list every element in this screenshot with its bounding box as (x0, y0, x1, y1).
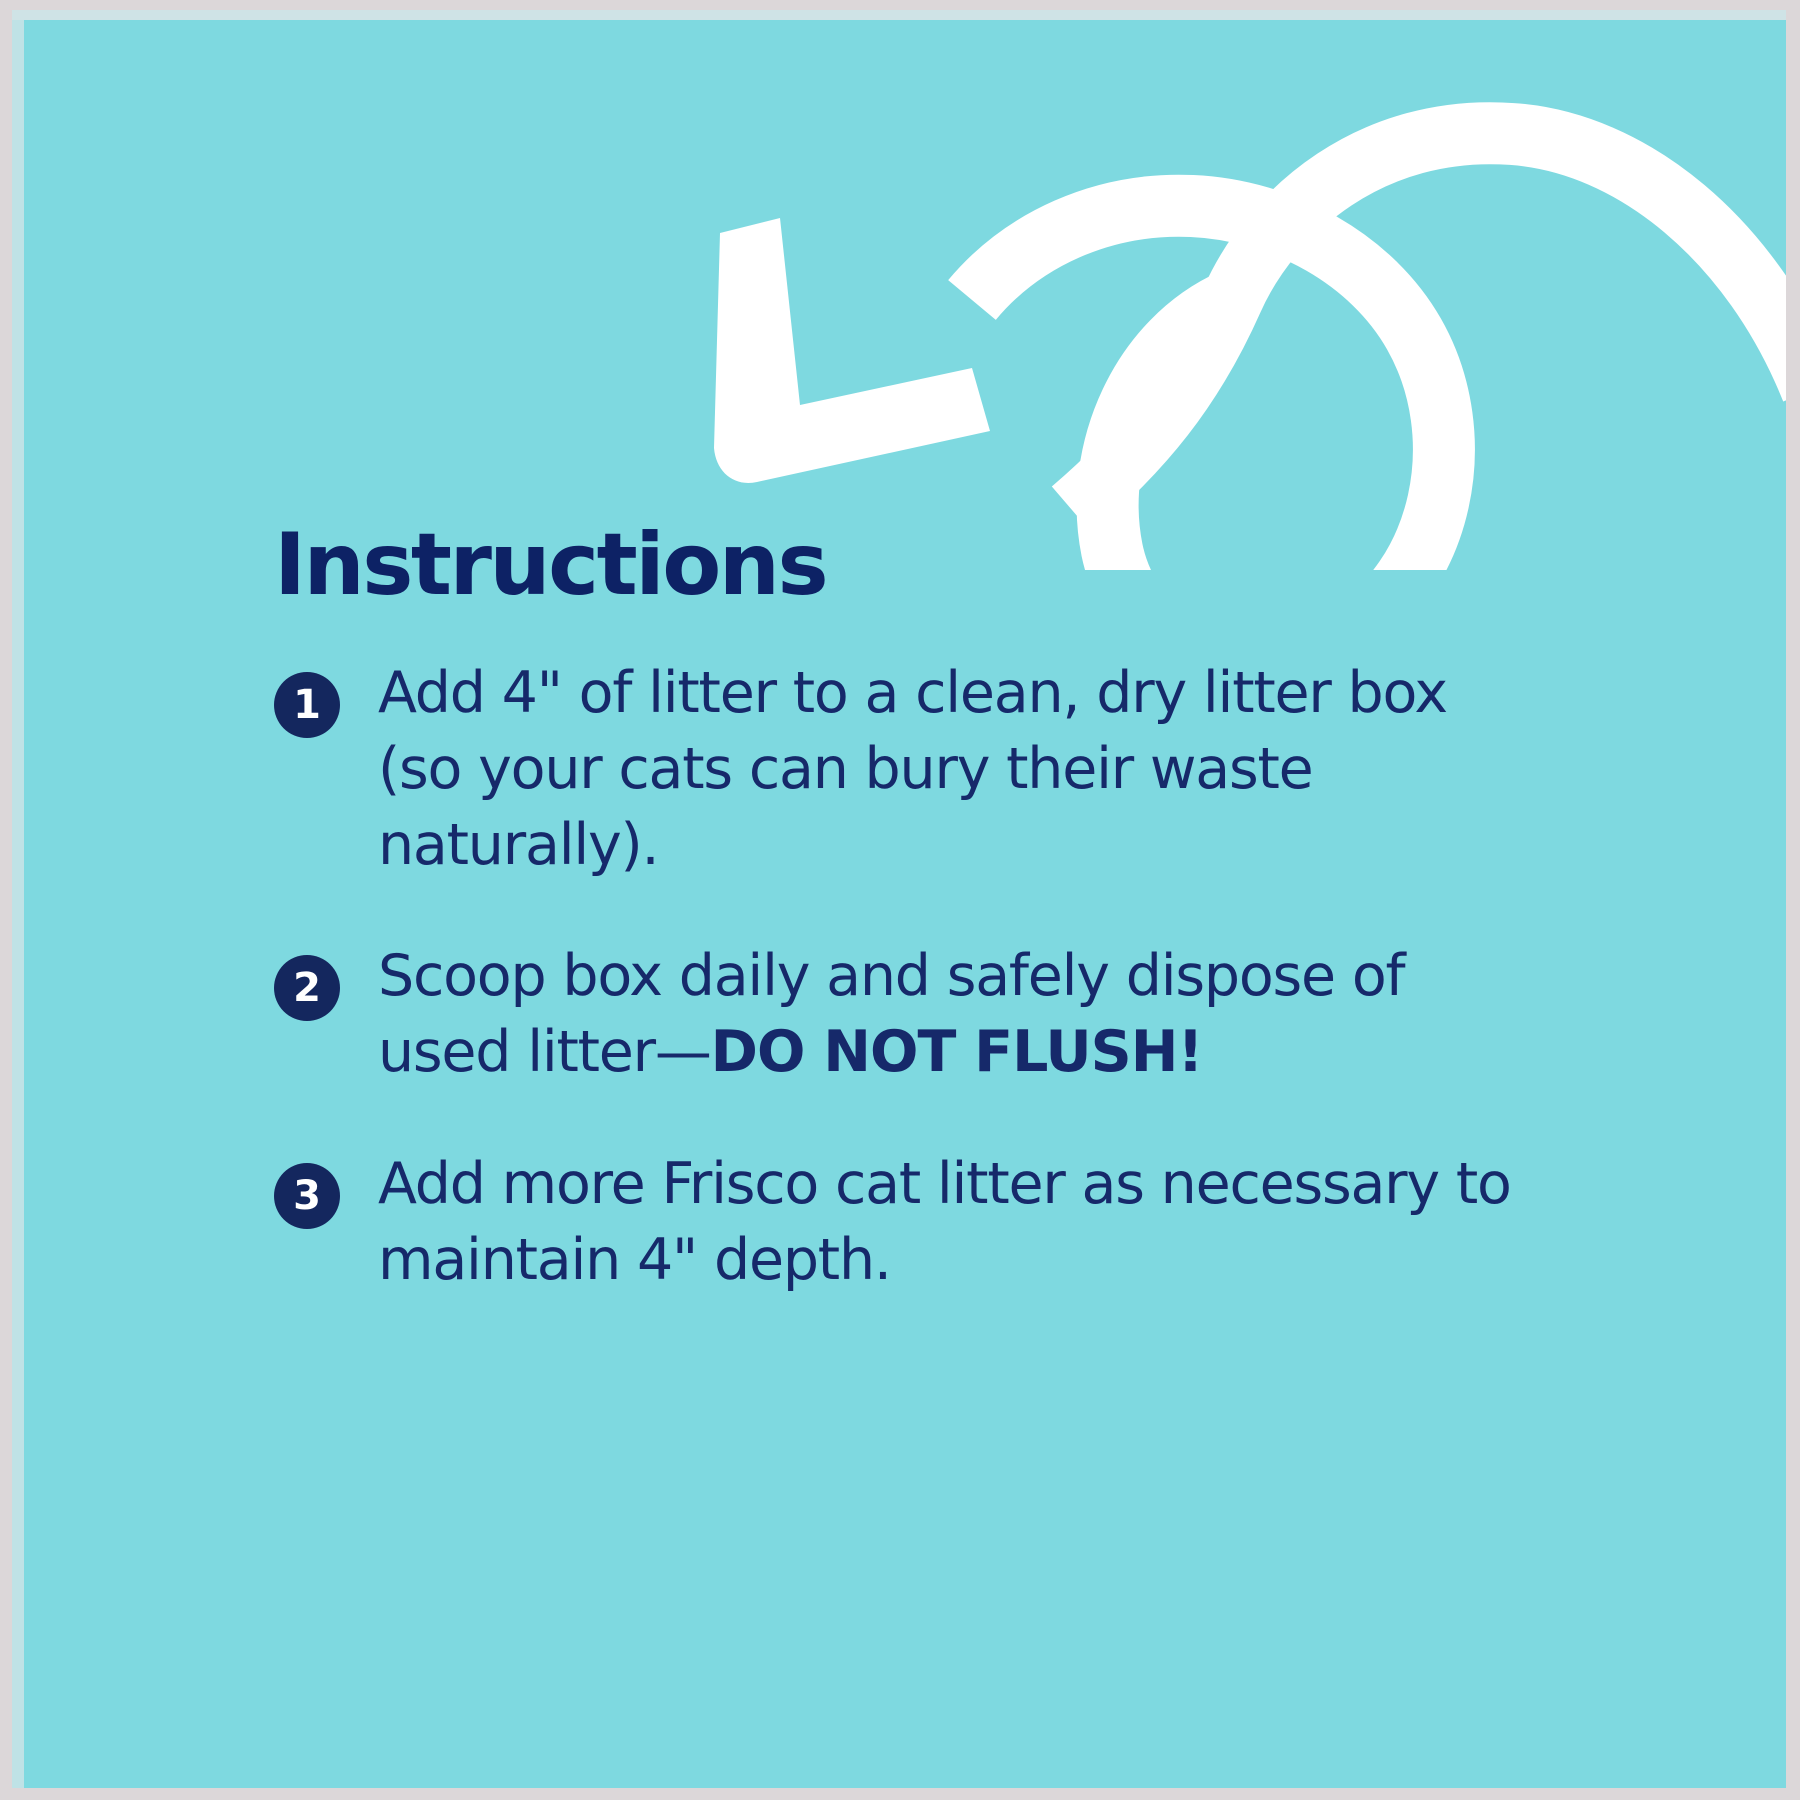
steps-list: 1 Add 4" of litter to a clean, dry litte… (274, 656, 1534, 1299)
step-text-normal: Add 4" of litter to a clean, dry litter … (378, 660, 1447, 878)
step-text-normal: Add more Frisco cat litter as necessary … (378, 1151, 1511, 1293)
instructions-content: Instructions 1 Add 4" of litter to a cle… (274, 522, 1534, 1299)
left-edge-highlight (12, 10, 24, 1788)
arrowhead-icon (714, 218, 990, 483)
step-number-badge: 1 (274, 672, 340, 738)
list-item: 3 Add more Frisco cat litter as necessar… (274, 1147, 1534, 1299)
top-edge-highlight (12, 10, 1786, 20)
step-number-badge: 2 (274, 955, 340, 1021)
page-title: Instructions (274, 522, 1534, 608)
list-item: 1 Add 4" of litter to a clean, dry litte… (274, 656, 1534, 883)
step-text: Add more Frisco cat litter as necessary … (378, 1147, 1534, 1299)
card-canvas: Instructions 1 Add 4" of litter to a cle… (12, 10, 1786, 1788)
step-text-emphasis: DO NOT FLUSH! (711, 1019, 1203, 1085)
step-number-badge: 3 (274, 1163, 340, 1229)
list-item: 2 Scoop box daily and safely dispose of … (274, 939, 1534, 1091)
instructions-card: Instructions 1 Add 4" of litter to a cle… (0, 0, 1800, 1800)
curved-loop-arrow-icon (672, 90, 1786, 570)
step-text: Scoop box daily and safely dispose of us… (378, 939, 1534, 1091)
step-text: Add 4" of litter to a clean, dry litter … (378, 656, 1534, 883)
